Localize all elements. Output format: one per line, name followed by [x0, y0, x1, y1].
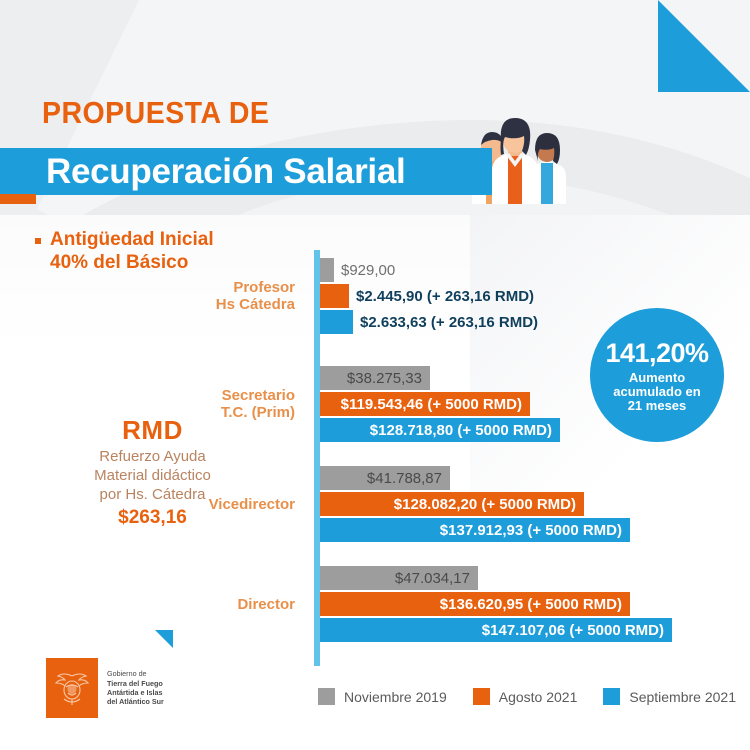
blue-flag-icon: [155, 630, 177, 656]
legend-swatch-icon: [318, 688, 335, 705]
legend-item-ago2021: Agosto 2021: [473, 688, 578, 705]
chart-bar-agosto-2021: $128.082,20 (+ 5000 RMD): [320, 492, 584, 516]
page-title: Recuperación Salarial: [46, 151, 516, 192]
chart-bar-agosto-2021: $136.620,95 (+ 5000 RMD): [320, 592, 630, 616]
chart-category-label-line: Secretario: [65, 387, 295, 404]
chart-bar-value-label: $128.082,20 (+ 5000 RMD): [394, 496, 576, 513]
government-logo: Gobierno de Tierra del Fuego Antártida e…: [46, 658, 164, 718]
page-kicker: PROPUESTA DE: [42, 95, 269, 131]
chart-category-label: Director: [65, 596, 295, 613]
government-logo-text: Gobierno de Tierra del Fuego Antártida e…: [107, 669, 164, 707]
chart-bar-value-label: $128.718,80 (+ 5000 RMD): [370, 422, 552, 439]
chart-bar-agosto-2021: $2.445,90 (+ 263,16 RMD): [320, 284, 349, 308]
legend-label: Septiembre 2021: [629, 689, 736, 705]
chart-bar-septiembre-2021: $147.107,06 (+ 5000 RMD): [320, 618, 672, 642]
chart-bar-value-label: $136.620,95 (+ 5000 RMD): [440, 596, 622, 613]
legend-swatch-icon: [473, 688, 490, 705]
salary-bar-chart: ProfesorHs Cátedra$929,00$2.445,90 (+ 26…: [0, 248, 750, 668]
chart-bar-noviembre-2019: $41.788,87: [320, 466, 450, 490]
chart-bar-septiembre-2021: $137.912,93 (+ 5000 RMD): [320, 518, 630, 542]
legend-label: Agosto 2021: [499, 689, 578, 705]
chart-bar-noviembre-2019: $929,00: [320, 258, 334, 282]
logo-line-1: Gobierno de: [107, 669, 164, 678]
logo-line-2: Tierra del Fuego: [107, 679, 164, 688]
legend-label: Noviembre 2019: [344, 689, 447, 705]
chart-bar-noviembre-2019: $38.275,33: [320, 366, 430, 390]
chart-bar-value-label: $2.633,63 (+ 263,16 RMD): [353, 314, 538, 331]
chart-category-label: Vicedirector: [65, 496, 295, 513]
logo-line-4: del Atlántico Sur: [107, 697, 164, 706]
chart-bar-value-label: $119.543,46 (+ 5000 RMD): [341, 396, 522, 413]
chart-bar-noviembre-2019: $47.034,17: [320, 566, 478, 590]
chart-group-2: SecretarioT.C. (Prim)$38.275,33$119.543,…: [0, 366, 750, 442]
title-underbar-accent: [0, 194, 36, 204]
chart-category-label-line: Vicedirector: [65, 496, 295, 513]
legend-item-nov2019: Noviembre 2019: [318, 688, 447, 705]
chart-bar-agosto-2021: $119.543,46 (+ 5000 RMD): [320, 392, 530, 416]
chart-bar-value-label: $929,00: [334, 262, 395, 279]
chart-legend: Noviembre 2019Agosto 2021Septiembre 2021: [318, 688, 736, 705]
chart-bar-value-label: $38.275,33: [347, 370, 422, 387]
chart-category-label: ProfesorHs Cátedra: [65, 279, 295, 313]
chart-bar-value-label: $137.912,93 (+ 5000 RMD): [440, 522, 622, 539]
chart-category-label-line: Hs Cátedra: [65, 296, 295, 313]
chart-bar-value-label: $41.788,87: [367, 470, 442, 487]
infographic-poster: PROPUESTA DE Recuperación Salarial Antig…: [0, 0, 750, 750]
chart-group-1: ProfesorHs Cátedra$929,00$2.445,90 (+ 26…: [0, 258, 750, 334]
chart-group-3: Vicedirector$41.788,87$128.082,20 (+ 500…: [0, 466, 750, 542]
chart-bar-septiembre-2021: $2.633,63 (+ 263,16 RMD): [320, 310, 353, 334]
chart-bar-value-label: $2.445,90 (+ 263,16 RMD): [349, 288, 534, 305]
chart-category-label-line: Profesor: [65, 279, 295, 296]
chart-category-label: SecretarioT.C. (Prim): [65, 387, 295, 421]
chart-group-4: Director$47.034,17$136.620,95 (+ 5000 RM…: [0, 566, 750, 642]
government-crest-icon: [46, 658, 98, 718]
legend-item-sep2021: Septiembre 2021: [603, 688, 736, 705]
chart-category-label-line: T.C. (Prim): [65, 404, 295, 421]
chart-bar-septiembre-2021: $128.718,80 (+ 5000 RMD): [320, 418, 560, 442]
logo-line-3: Antártida e Islas: [107, 688, 164, 697]
bullet-square-icon: [35, 238, 41, 244]
chart-bar-value-label: $47.034,17: [395, 570, 470, 587]
chart-bar-value-label: $147.107,06 (+ 5000 RMD): [482, 622, 664, 639]
chart-category-label-line: Director: [65, 596, 295, 613]
legend-swatch-icon: [603, 688, 620, 705]
